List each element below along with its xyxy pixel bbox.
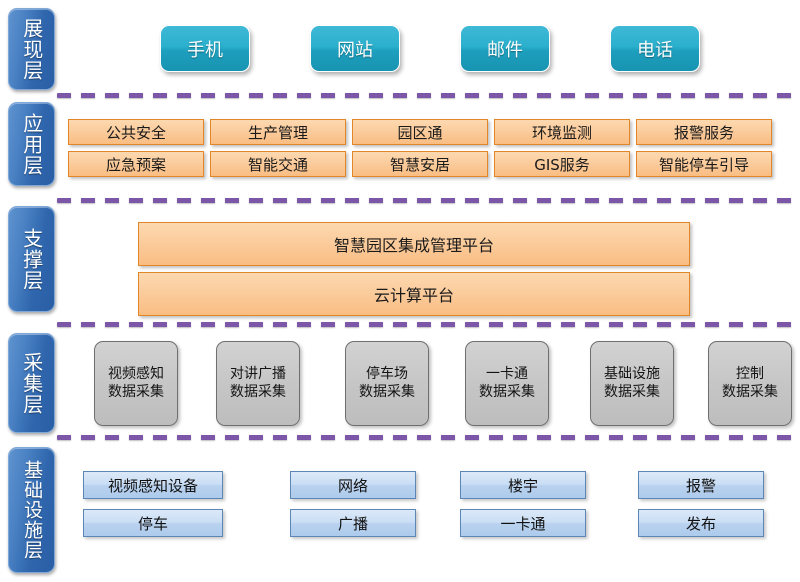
box-label: 智能停车引导: [659, 154, 749, 175]
box-label-line2: 数据采集: [230, 384, 286, 400]
box-label: 控制 数据采集: [722, 366, 778, 400]
application-box-emergency-plan[interactable]: 应急预案: [68, 151, 204, 177]
box-label: 一卡通 数据采集: [479, 366, 535, 400]
acquisition-box-parking-lot[interactable]: 停车场 数据采集: [345, 341, 429, 426]
support-box-cloud-computing-platform[interactable]: 云计算平台: [138, 272, 690, 316]
box-label: 对讲广播 数据采集: [230, 366, 286, 400]
box-label-line2: 数据采集: [108, 384, 164, 400]
box-label: 视频感知 数据采集: [108, 366, 164, 400]
box-label: 电话: [637, 36, 673, 62]
box-label: 楼宇: [508, 475, 538, 496]
box-label: 智慧安居: [390, 154, 450, 175]
box-label: 一卡通: [500, 513, 545, 534]
acquisition-box-video-sensing[interactable]: 视频感知 数据采集: [94, 341, 178, 426]
layer-tab-label: 支撑层: [20, 228, 42, 291]
infrastructure-box-one-card[interactable]: 一卡通: [460, 509, 586, 537]
infrastructure-box-video-sensing-device[interactable]: 视频感知设备: [83, 471, 223, 499]
infrastructure-box-network[interactable]: 网络: [290, 471, 416, 499]
box-label: 停车: [138, 513, 168, 534]
infrastructure-box-building[interactable]: 楼宇: [460, 471, 586, 499]
box-label: 生产管理: [248, 122, 308, 143]
box-label: 网络: [338, 475, 368, 496]
application-box-gis-service[interactable]: GIS服务: [494, 151, 630, 177]
presentation-box-phone[interactable]: 电话: [610, 25, 700, 72]
separator-application-support: [57, 198, 798, 203]
separator-support-acquisition: [57, 322, 798, 327]
box-label-line1: 一卡通: [486, 366, 528, 382]
box-label: 报警服务: [674, 122, 734, 143]
box-label: 视频感知设备: [108, 475, 198, 496]
layer-tab-application[interactable]: 应用层: [8, 102, 55, 186]
presentation-box-email[interactable]: 邮件: [460, 25, 550, 72]
box-label: 报警: [686, 475, 716, 496]
separator-acquisition-infrastructure: [57, 435, 798, 440]
box-label: 邮件: [487, 36, 523, 62]
box-label-line2: 数据采集: [479, 384, 535, 400]
box-label: 公共安全: [106, 122, 166, 143]
box-label-line1: 停车场: [366, 366, 408, 382]
support-box-integrated-management-platform[interactable]: 智慧园区集成管理平台: [138, 222, 690, 266]
layer-tab-support[interactable]: 支撑层: [8, 206, 55, 312]
application-box-park-pass[interactable]: 园区通: [352, 119, 488, 145]
box-label: 手机: [187, 36, 223, 62]
acquisition-box-control[interactable]: 控制 数据采集: [708, 341, 792, 426]
box-label: 云计算平台: [374, 282, 454, 306]
application-box-production-management[interactable]: 生产管理: [210, 119, 346, 145]
box-label-line2: 数据采集: [722, 384, 778, 400]
infrastructure-box-publish[interactable]: 发布: [638, 509, 764, 537]
box-label: 网站: [337, 36, 373, 62]
box-label: 园区通: [397, 122, 442, 143]
application-box-smart-transport[interactable]: 智能交通: [210, 151, 346, 177]
box-label-line2: 数据采集: [604, 384, 660, 400]
box-label: GIS服务: [534, 154, 590, 175]
application-box-alarm-service[interactable]: 报警服务: [636, 119, 772, 145]
layer-tab-label: 基础设施层: [21, 460, 42, 560]
infrastructure-box-broadcast[interactable]: 广播: [290, 509, 416, 537]
application-box-public-security[interactable]: 公共安全: [68, 119, 204, 145]
box-label-line1: 基础设施: [604, 366, 660, 382]
presentation-box-mobile[interactable]: 手机: [160, 25, 250, 72]
acquisition-box-one-card[interactable]: 一卡通 数据采集: [465, 341, 549, 426]
separator-presentation-application: [57, 93, 798, 98]
box-label: 基础设施 数据采集: [604, 366, 660, 400]
box-label: 停车场 数据采集: [359, 366, 415, 400]
box-label-line1: 控制: [736, 366, 764, 382]
infrastructure-box-alarm[interactable]: 报警: [638, 471, 764, 499]
acquisition-box-infrastructure[interactable]: 基础设施 数据采集: [590, 341, 674, 426]
box-label-line1: 对讲广播: [230, 366, 286, 382]
box-label: 环境监测: [532, 122, 592, 143]
infrastructure-box-parking[interactable]: 停车: [83, 509, 223, 537]
layer-tab-label: 采集层: [20, 352, 42, 415]
box-label: 智慧园区集成管理平台: [334, 232, 494, 256]
box-label-line1: 视频感知: [108, 366, 164, 382]
layer-tab-presentation[interactable]: 展现层: [8, 8, 55, 90]
presentation-box-website[interactable]: 网站: [310, 25, 400, 72]
box-label: 广播: [338, 513, 368, 534]
box-label: 智能交通: [248, 154, 308, 175]
box-label: 发布: [686, 513, 716, 534]
application-box-smart-living[interactable]: 智慧安居: [352, 151, 488, 177]
layer-tab-label: 展现层: [20, 18, 42, 81]
layer-tab-label: 应用层: [20, 113, 42, 176]
architecture-diagram: 展现层 应用层 支撑层 采集层 基础设施层 手机 网站 邮件 电话 公共安全 应…: [0, 0, 800, 582]
acquisition-box-intercom-broadcast[interactable]: 对讲广播 数据采集: [216, 341, 300, 426]
layer-tab-acquisition[interactable]: 采集层: [8, 333, 55, 433]
box-label-line2: 数据采集: [359, 384, 415, 400]
application-box-environment-monitoring[interactable]: 环境监测: [494, 119, 630, 145]
application-box-smart-parking-guidance[interactable]: 智能停车引导: [636, 151, 772, 177]
box-label: 应急预案: [106, 154, 166, 175]
layer-tab-infrastructure[interactable]: 基础设施层: [8, 447, 55, 573]
